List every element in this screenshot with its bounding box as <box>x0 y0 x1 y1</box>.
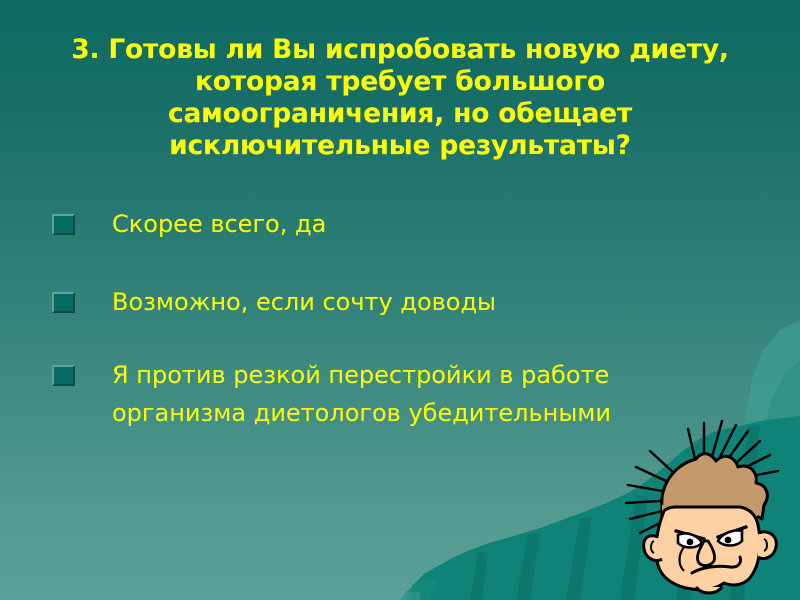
square-bullet-icon <box>52 292 75 313</box>
title-line-3: самоограничения, но обещает <box>18 98 782 130</box>
page-title: 3. Готовы ли Вы испробовать новую диету,… <box>18 34 782 162</box>
title-line-4: исключительные результаты? <box>18 130 782 162</box>
answer-text-3: Я против резкой перестройки в работе орг… <box>112 356 611 432</box>
answer-text-2: Возможно, если сочту доводы <box>112 283 496 321</box>
angry-cartoon-face <box>600 415 800 600</box>
bottom-band <box>0 592 420 600</box>
square-bullet-icon <box>52 365 75 386</box>
slide-canvas: 3. Готовы ли Вы испробовать новую диету,… <box>0 0 800 600</box>
list-item[interactable]: Скорее всего, да <box>52 205 772 243</box>
hill-toe-left <box>400 578 436 600</box>
pupil-right <box>725 537 732 544</box>
list-item[interactable]: Возможно, если сочту доводы <box>52 283 772 321</box>
answer-line: Я против резкой перестройки в работе <box>112 361 609 389</box>
square-bullet-icon <box>52 214 75 235</box>
answer-line-2: организма диетологов убедительными <box>112 394 611 432</box>
pupil-left <box>687 539 694 546</box>
answer-text-1: Скорее всего, да <box>112 205 326 243</box>
answer-line: Возможно, если сочту доводы <box>112 288 496 316</box>
title-line-2: которая требует большого <box>18 66 782 98</box>
chin <box>696 587 722 593</box>
title-line-1: 3. Готовы ли Вы испробовать новую диету, <box>18 34 782 66</box>
answer-line: Скорее всего, да <box>112 210 326 238</box>
